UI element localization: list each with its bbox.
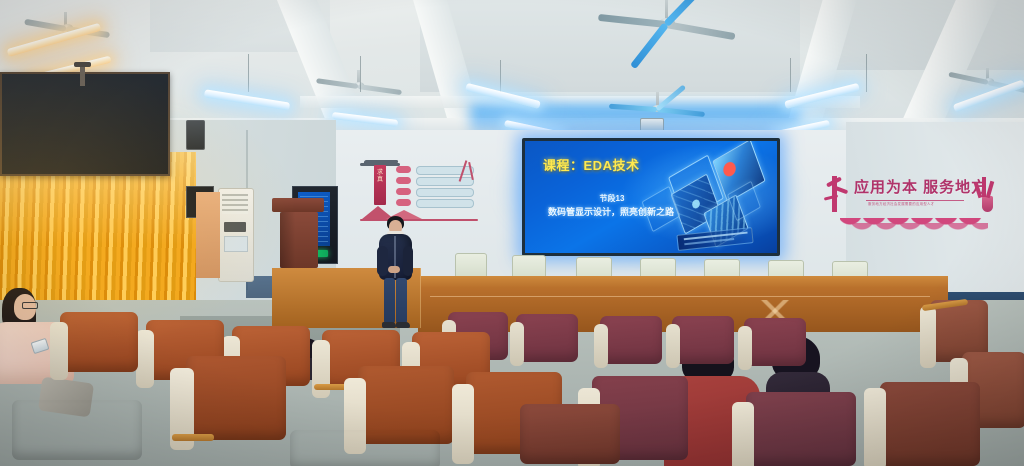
lectern-shadow xyxy=(280,212,318,268)
panel-mount-bar xyxy=(80,64,85,86)
led-presentation-screen[interactable]: 课程：EDA技术 节段13 数码管显示设计，照亮创新之路 xyxy=(522,138,780,256)
board-tag xyxy=(396,177,411,184)
light-wire xyxy=(790,58,791,92)
board-tag xyxy=(396,188,411,195)
student-glasses-icon xyxy=(22,302,38,309)
ac-label xyxy=(224,236,248,252)
seat[interactable] xyxy=(672,316,734,368)
right-wall-slogan: 应用为本 服务地方 服务地方经济社会发展需要的应用型人才 xyxy=(818,168,1018,238)
wave-motif xyxy=(852,223,988,232)
board-tag xyxy=(396,199,411,206)
seat[interactable] xyxy=(744,318,806,370)
ceiling-coffer-right xyxy=(830,0,1024,70)
presenter-arm-left xyxy=(377,246,388,276)
seat[interactable] xyxy=(600,316,662,368)
lecture-hall-photo: 课程：EDA技术 节段13 数码管显示设计，照亮创新之路 应用为本 服务地方 服… xyxy=(0,0,1024,466)
fan-blade xyxy=(358,84,402,95)
fan-blade xyxy=(665,21,735,40)
wall-speaker xyxy=(186,120,205,150)
presenter-leg xyxy=(384,278,395,324)
ac-vent-icon xyxy=(222,194,248,214)
board-row-text xyxy=(416,188,474,197)
vase-motif xyxy=(982,196,993,212)
presenter-shoe xyxy=(396,322,410,328)
seat[interactable] xyxy=(516,314,578,366)
presenter-instructor xyxy=(374,216,416,330)
flower-motif xyxy=(982,177,986,197)
seat[interactable] xyxy=(520,404,620,466)
lectern-podium[interactable] xyxy=(272,198,324,212)
slide-section-label: 节段13 xyxy=(547,193,677,204)
slide-course-title: 课程：EDA技术 xyxy=(543,155,639,174)
fan-blade xyxy=(316,78,358,89)
slide-lesson-title: 数码管显示设计，照亮创新之路 xyxy=(531,205,691,218)
ceiling-fan-1 xyxy=(586,0,746,48)
ceiling-fan-3 xyxy=(310,70,406,100)
slogan-headline: 应用为本 服务地方 xyxy=(854,176,987,197)
light-wire xyxy=(360,56,361,92)
fan-blade xyxy=(948,72,988,85)
wall-mounted-dark-display-panel[interactable] xyxy=(0,72,170,176)
stage-table-top xyxy=(418,276,948,288)
seat[interactable] xyxy=(12,400,142,466)
slide-course-name: EDA技术 xyxy=(584,158,640,173)
slogan-subline: 服务地方经济社会发展需要的应用型人才 xyxy=(868,201,934,206)
fan-blade xyxy=(663,0,707,27)
cabinet-left-orange xyxy=(196,192,220,278)
presenter-arm-right xyxy=(403,246,413,276)
board-row-text xyxy=(416,166,474,175)
slide-course-label: 课程： xyxy=(543,158,584,173)
board-row-text xyxy=(416,177,474,186)
board-row-text xyxy=(416,199,474,208)
panel-mount-arm xyxy=(74,62,91,67)
seat[interactable] xyxy=(880,382,990,466)
fan-blade xyxy=(657,107,705,117)
board-banner-text: 求真 xyxy=(375,170,385,184)
fan-blade xyxy=(609,104,657,112)
board-tag xyxy=(396,166,411,173)
fan-blade xyxy=(598,14,666,28)
seat[interactable] xyxy=(186,356,286,448)
presenter-hand xyxy=(388,266,400,273)
presenter-shoe xyxy=(382,322,396,328)
stage-table-panel-line xyxy=(430,296,930,297)
light-wire xyxy=(248,54,249,92)
seat[interactable] xyxy=(60,312,138,378)
seat[interactable] xyxy=(290,430,440,466)
light-wire xyxy=(500,60,501,94)
light-wire xyxy=(866,54,867,92)
seat[interactable] xyxy=(746,392,856,466)
fan-blade xyxy=(24,19,66,32)
presenter-leg xyxy=(396,278,407,324)
ac-control-panel[interactable] xyxy=(224,222,246,232)
